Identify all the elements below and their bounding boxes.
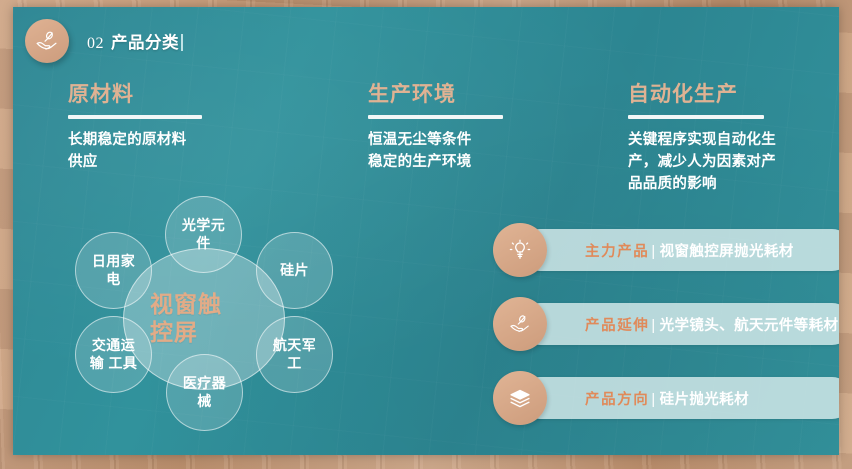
lightbulb-icon [493, 223, 547, 277]
feature-column-raw-material: 原材料 长期稳定的原材料 供应 [68, 83, 318, 173]
venn-center-label: 视窗触 控屏 [150, 291, 258, 346]
pill-value: 视窗触控屏抛光耗材 [660, 244, 794, 260]
pill-key: 主力产品 [585, 244, 649, 260]
pill-key: 产品方向 [585, 392, 649, 408]
hand-sprout-icon [493, 297, 547, 351]
feature-column-production-env: 生产环境 恒温无尘等条件 稳定的生产环境 [368, 83, 598, 173]
feature-column-automation: 自动化生产 关键程序实现自动化生 产，减少人为因素对产 品品质的影响 [628, 83, 839, 195]
page-title: 02产品分类 [87, 29, 183, 53]
slide-header: 02产品分类 [25, 19, 183, 63]
pill-value: 光学镜头、航天元件等耗材 [660, 318, 839, 334]
pill-text: 产品延伸|光学镜头、航天元件等耗材 [585, 314, 838, 335]
column-heading: 原材料 [68, 83, 318, 106]
hand-sprout-icon [25, 19, 69, 63]
slide-panel: 02产品分类 原材料 长期稳定的原材料 供应 生产环境 恒温无尘等条件 稳定的生… [13, 7, 839, 455]
application-venn-diagram: 日用家 电 光学元 件 硅片 航天军 工 医疗器 械 交通运 输 工具 视窗触 … [53, 191, 363, 446]
slide-stage: 02产品分类 原材料 长期稳定的原材料 供应 生产环境 恒温无尘等条件 稳定的生… [0, 0, 852, 469]
pill-text: 主力产品|视窗触控屏抛光耗材 [585, 240, 794, 261]
column-body: 长期稳定的原材料 供应 [68, 129, 318, 173]
pill-value: 硅片抛光耗材 [660, 392, 749, 408]
venn-bubble-label: 光学元 件 [174, 217, 233, 251]
layers-icon [493, 371, 547, 425]
pill-text: 产品方向|硅片抛光耗材 [585, 388, 749, 409]
column-divider [628, 115, 764, 119]
column-divider [68, 115, 202, 119]
column-body: 恒温无尘等条件 稳定的生产环境 [368, 129, 598, 173]
pill-bar[interactable]: 主力产品|视窗触控屏抛光耗材 [519, 229, 839, 271]
column-heading: 生产环境 [368, 83, 598, 106]
pill-separator: | [651, 318, 655, 334]
column-body: 关键程序实现自动化生 产，减少人为因素对产 品品质的影响 [628, 129, 839, 195]
column-divider [368, 115, 503, 119]
pill-key: 产品延伸 [585, 318, 649, 334]
venn-center-bubble: 视窗触 控屏 [123, 248, 285, 390]
section-number: 02 [87, 35, 104, 52]
column-heading: 自动化生产 [628, 83, 839, 106]
venn-bubble-label: 硅片 [272, 262, 317, 279]
pill-bar[interactable]: 产品方向|硅片抛光耗材 [519, 377, 839, 419]
pill-separator: | [651, 392, 655, 408]
pill-separator: | [651, 244, 655, 260]
pill-bar[interactable]: 产品延伸|光学镜头、航天元件等耗材 [519, 303, 839, 345]
text-caret [181, 34, 183, 51]
section-title: 产品分类 [111, 34, 179, 52]
